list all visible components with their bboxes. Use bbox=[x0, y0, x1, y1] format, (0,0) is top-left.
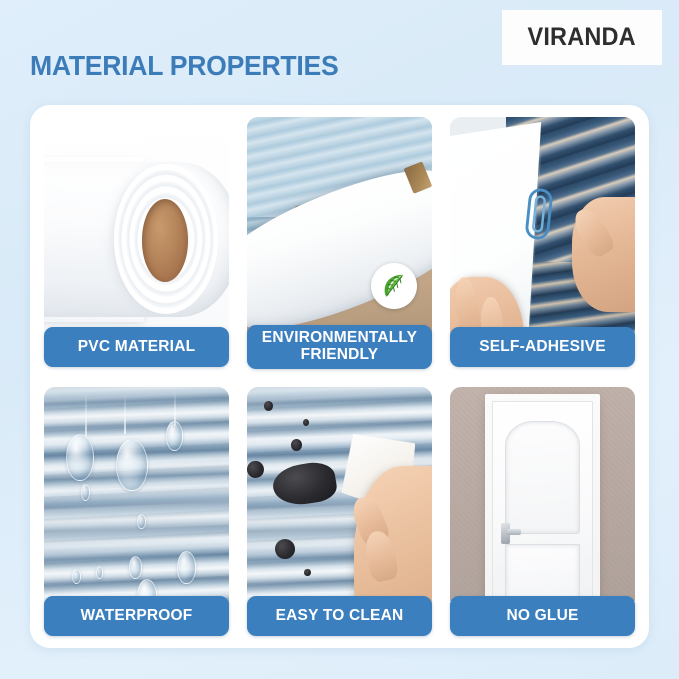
stain-mark bbox=[304, 569, 310, 576]
door-panel-top-shape bbox=[505, 421, 580, 533]
droplet-trail bbox=[124, 394, 126, 434]
water-droplet bbox=[116, 439, 147, 491]
brand-name: VIRANDA bbox=[528, 23, 636, 52]
feature-tile-environmentally-friendly[interactable]: ENVIRONMENTALLY FRIENDLY bbox=[247, 117, 432, 367]
paperclip-icon bbox=[521, 185, 556, 242]
door-frame-shape bbox=[485, 394, 600, 624]
features-card: PVC MATERIAL bbox=[30, 105, 649, 648]
feature-tile-no-glue[interactable]: NO GLUE bbox=[450, 387, 635, 637]
feature-tile-self-adhesive[interactable]: SELF-ADHESIVE bbox=[450, 117, 635, 367]
feature-label-waterproof: WATERPROOF bbox=[44, 596, 229, 636]
water-droplet bbox=[129, 556, 142, 578]
feature-tile-easy-to-clean[interactable]: EASY TO CLEAN bbox=[247, 387, 432, 637]
page-header: MATERIAL PROPERTIES VIRANDA bbox=[0, 0, 679, 105]
feature-label-pvc-material: PVC MATERIAL bbox=[44, 327, 229, 367]
door-leaf-shape bbox=[492, 401, 593, 619]
feature-label-self-adhesive: SELF-ADHESIVE bbox=[450, 327, 635, 367]
water-droplet bbox=[66, 434, 94, 481]
feature-label-environmentally-friendly: ENVIRONMENTALLY FRIENDLY bbox=[247, 325, 432, 369]
feature-tile-grid: PVC MATERIAL bbox=[44, 117, 635, 636]
water-droplet bbox=[166, 421, 183, 451]
water-droplet bbox=[137, 514, 146, 529]
page-title: MATERIAL PROPERTIES bbox=[30, 50, 338, 82]
feature-label-easy-to-clean: EASY TO CLEAN bbox=[247, 596, 432, 636]
water-droplet bbox=[96, 566, 103, 578]
door-handle-lever-shape bbox=[507, 529, 521, 535]
water-droplet bbox=[72, 569, 81, 584]
droplet-trail bbox=[85, 391, 87, 441]
leaf-badge bbox=[371, 263, 417, 309]
leaf-icon bbox=[379, 271, 409, 301]
feature-tile-waterproof[interactable]: WATERPROOF bbox=[44, 387, 229, 637]
brand-logo-badge: VIRANDA bbox=[502, 10, 662, 65]
feature-tile-pvc-material[interactable]: PVC MATERIAL bbox=[44, 117, 229, 367]
water-droplet bbox=[177, 551, 196, 583]
feature-label-no-glue: NO GLUE bbox=[450, 596, 635, 636]
pvc-cardboard-core-shape bbox=[142, 199, 188, 281]
